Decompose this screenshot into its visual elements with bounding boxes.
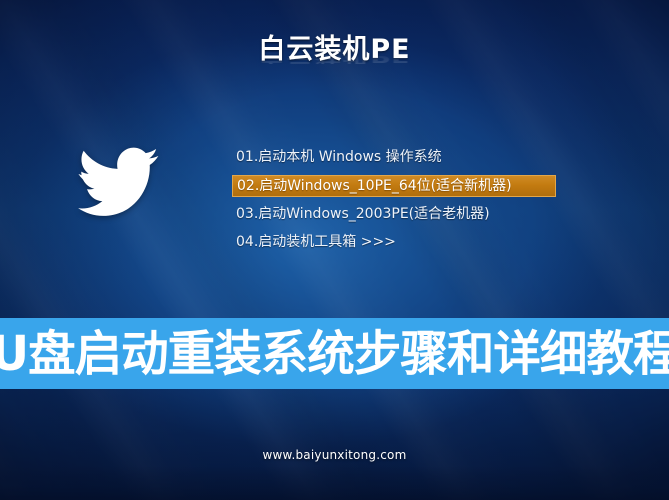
boot-menu-item-04[interactable]: 04.启动装机工具箱 >>>: [232, 232, 562, 253]
bird-icon: [66, 136, 162, 220]
brand-logo-reflection: 白云装机PE: [0, 50, 669, 64]
boot-menu-list[interactable]: 01.启动本机 Windows 操作系统 02.启动Windows_10PE_6…: [232, 147, 562, 260]
boot-menu-item-01[interactable]: 01.启动本机 Windows 操作系统: [232, 147, 562, 168]
tutorial-banner: U盘启动重装系统步骤和详细教程: [0, 318, 669, 389]
boot-menu-item-02[interactable]: 02.启动Windows_10PE_64位(适合新机器): [232, 175, 556, 197]
footer-website-url: www.baiyunxitong.com: [0, 448, 669, 462]
brand-logo-text: 白云装机PE: [258, 36, 410, 63]
bottom-shade: [0, 466, 669, 500]
brand-logo: 白云装机PE 白云装机PE: [0, 36, 669, 91]
tutorial-banner-text: U盘启动重装系统步骤和详细教程: [0, 330, 669, 378]
boot-menu-screen: 白云装机PE 白云装机PE 01.启动本机 Windows 操作系统 02.启动…: [0, 0, 669, 500]
boot-menu-item-03[interactable]: 03.启动Windows_2003PE(适合老机器): [232, 204, 562, 225]
